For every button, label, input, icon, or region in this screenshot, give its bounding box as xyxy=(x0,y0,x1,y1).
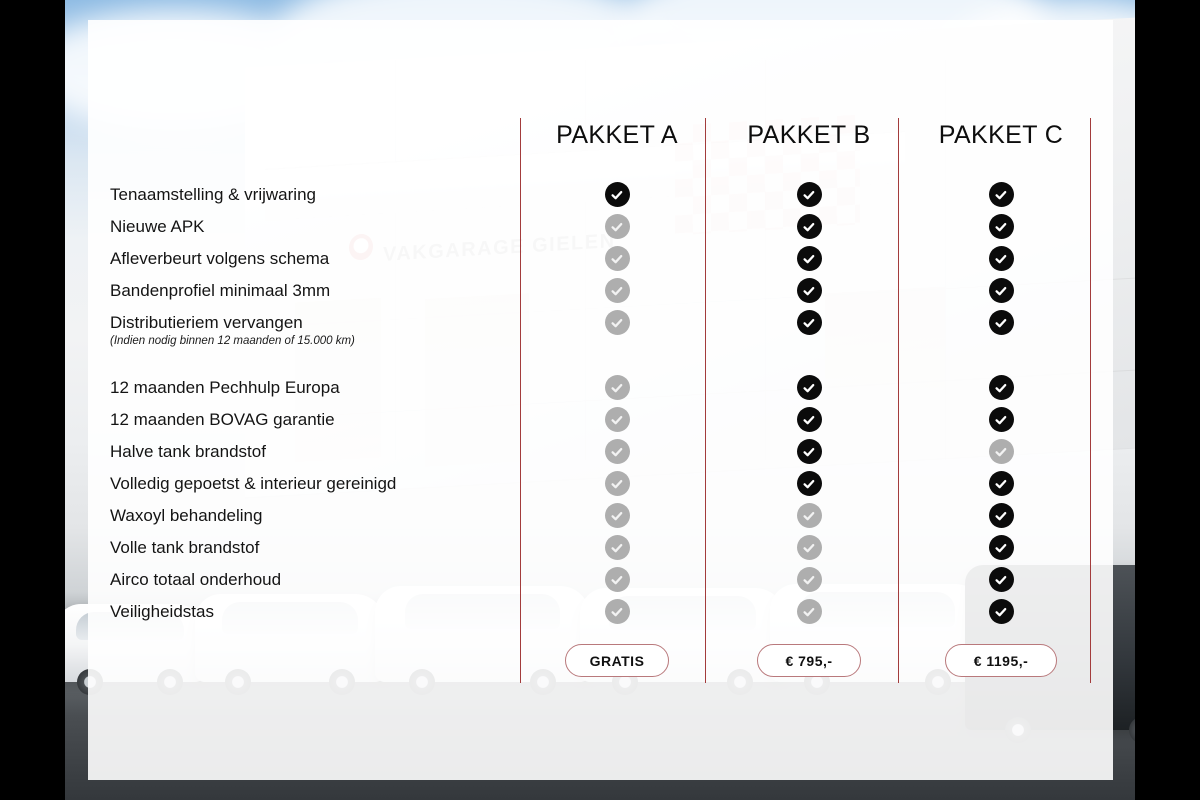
check-included-icon xyxy=(989,278,1014,303)
feature-label: Afleverbeurt volgens schema xyxy=(110,250,329,267)
check-included-icon xyxy=(797,310,822,335)
feature-label: Veiligheidstas xyxy=(110,603,214,620)
check-included-icon xyxy=(989,503,1014,528)
column-divider xyxy=(705,118,706,683)
check-included-icon xyxy=(989,246,1014,271)
check-included-icon xyxy=(797,439,822,464)
check-included-icon xyxy=(989,310,1014,335)
check-excluded-icon xyxy=(797,503,822,528)
check-excluded-icon xyxy=(797,535,822,560)
price-button-b[interactable]: € 795,- xyxy=(757,644,861,677)
feature-label: Tenaamstelling & vrijwaring xyxy=(110,186,316,203)
check-excluded-icon xyxy=(605,439,630,464)
check-excluded-icon xyxy=(797,567,822,592)
check-excluded-icon xyxy=(605,567,630,592)
column-header-a: PAKKET A xyxy=(519,120,715,150)
check-included-icon xyxy=(797,375,822,400)
feature-note: (Indien nodig binnen 12 maanden of 15.00… xyxy=(110,336,355,348)
column-header-c: PAKKET C xyxy=(903,120,1099,150)
feature-label: Volle tank brandstof xyxy=(110,539,259,556)
check-included-icon xyxy=(989,471,1014,496)
check-excluded-icon xyxy=(605,214,630,239)
check-excluded-icon xyxy=(605,503,630,528)
check-excluded-icon xyxy=(605,246,630,271)
feature-label: 12 maanden Pechhulp Europa xyxy=(110,379,340,396)
check-included-icon xyxy=(989,214,1014,239)
check-included-icon xyxy=(989,599,1014,624)
check-excluded-icon xyxy=(605,535,630,560)
check-excluded-icon xyxy=(605,407,630,432)
feature-label: Waxoyl behandeling xyxy=(110,507,262,524)
check-included-icon xyxy=(797,471,822,496)
feature-label: 12 maanden BOVAG garantie xyxy=(110,411,335,428)
check-excluded-icon xyxy=(605,599,630,624)
check-excluded-icon xyxy=(605,310,630,335)
check-excluded-icon xyxy=(989,439,1014,464)
column-divider xyxy=(1090,118,1091,683)
check-included-icon xyxy=(989,375,1014,400)
price-button-a[interactable]: GRATIS xyxy=(565,644,669,677)
check-included-icon xyxy=(605,182,630,207)
letterbox-left xyxy=(0,0,65,800)
check-included-icon xyxy=(797,246,822,271)
check-excluded-icon xyxy=(797,599,822,624)
feature-label: Bandenprofiel minimaal 3mm xyxy=(110,282,330,299)
price-button-c[interactable]: € 1195,- xyxy=(945,644,1057,677)
feature-label: Nieuwe APK xyxy=(110,218,205,235)
check-included-icon xyxy=(797,214,822,239)
package-comparison-table: PAKKET APAKKET BPAKKET CTenaamstelling &… xyxy=(88,20,1113,780)
feature-label: Halve tank brandstof xyxy=(110,443,266,460)
feature-label: Distributieriem vervangen xyxy=(110,314,303,331)
check-included-icon xyxy=(989,407,1014,432)
column-divider xyxy=(520,118,521,683)
screenshot-stage: VAKGARAGE GIELEN xyxy=(0,0,1200,800)
check-excluded-icon xyxy=(605,375,630,400)
column-header-b: PAKKET B xyxy=(711,120,907,150)
check-included-icon xyxy=(797,278,822,303)
check-excluded-icon xyxy=(605,278,630,303)
column-divider xyxy=(898,118,899,683)
check-included-icon xyxy=(797,407,822,432)
feature-label: Volledig gepoetst & interieur gereinigd xyxy=(110,475,396,492)
check-included-icon xyxy=(989,535,1014,560)
check-included-icon xyxy=(989,567,1014,592)
check-included-icon xyxy=(989,182,1014,207)
feature-label: Airco totaal onderhoud xyxy=(110,571,281,588)
check-included-icon xyxy=(797,182,822,207)
check-excluded-icon xyxy=(605,471,630,496)
pricing-table-card: PAKKET APAKKET BPAKKET CTenaamstelling &… xyxy=(88,20,1113,780)
letterbox-right xyxy=(1135,0,1200,800)
